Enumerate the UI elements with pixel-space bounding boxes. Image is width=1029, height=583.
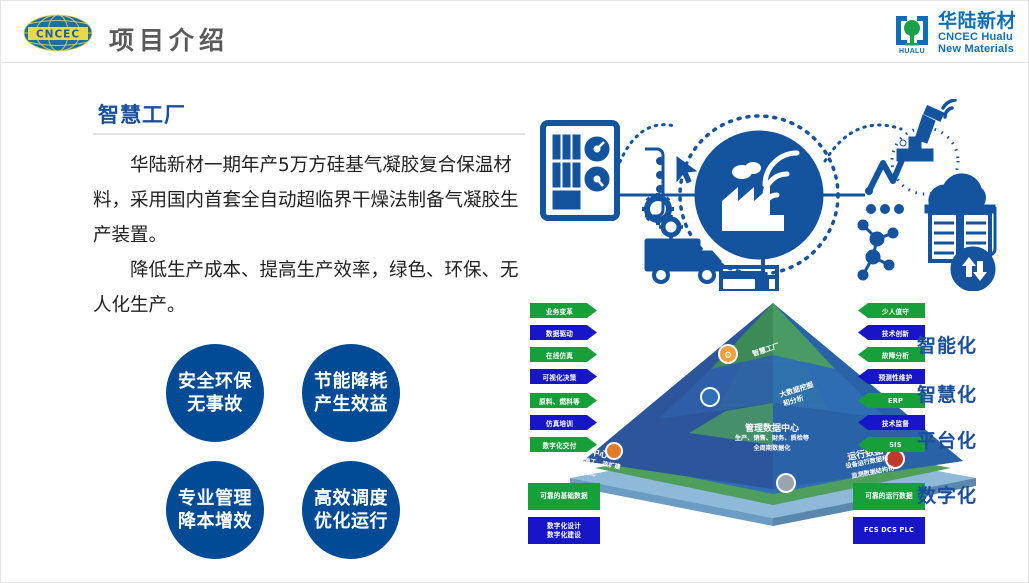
benefit-circle-safety: 安全环保 无事故 xyxy=(166,344,264,442)
body-paragraph-1: 华陆新材一期年产5万方硅基气凝胶复合保温材料，采用国内首套全自动超临界干燥法制备… xyxy=(93,148,528,253)
box-right-ops-data-line1: 可靠的运行数据 xyxy=(865,492,913,501)
benefit-circle-management-line1: 专业管理 xyxy=(178,487,252,510)
tag-left-1: 数据驱动 xyxy=(530,325,597,340)
cloud-icon xyxy=(929,174,986,209)
maturity-pyramid-diagram: ⚙ 智慧工厂 大数据挖掘 和分析 管理数据中心 生产、销售、财务、质检等 全周期… xyxy=(521,293,1026,545)
hualu-wordmark: 华陆新材 CNCEC Hualu New Materials xyxy=(938,12,1016,55)
benefit-circle-energy-line1: 节能降耗 xyxy=(314,370,388,393)
cncec-globe-logo: CNCEC xyxy=(19,14,97,52)
box-left-digital-design-line2: 数字化建设 xyxy=(547,531,581,540)
tag-right-6: SIS xyxy=(858,437,925,452)
page-header: CNCEC 项目介绍 HUALU 华陆新材 CNCEC Hualu New Ma… xyxy=(1,1,1029,63)
tag-right-3: 预测性维护 xyxy=(858,369,925,384)
tag-left-5: 仿真培训 xyxy=(530,415,597,430)
benefit-circle-safety-line1: 安全环保 xyxy=(178,370,252,393)
section-divider xyxy=(93,133,525,135)
level-label-intelligent: 智能化 xyxy=(917,331,977,358)
box-left-digital-design-line1: 数字化设计 xyxy=(547,522,581,531)
body-paragraph-2: 降低生产成本、提高生产效率，绿色、环保、无人化生产。 xyxy=(93,253,528,323)
body-text-block: 华陆新材一期年产5万方硅基气凝胶复合保温材料，采用国内首套全自动超临界干燥法制备… xyxy=(93,148,528,323)
tag-left-4: 原料、燃料等 xyxy=(530,393,597,408)
molecule-icon xyxy=(858,220,898,280)
dots-separator-icon xyxy=(867,205,904,214)
benefit-circle-scheduling: 高效调度 优化运行 xyxy=(302,461,400,559)
tag-right-5: 技术监督 xyxy=(858,415,925,430)
industrial-iot-illustration xyxy=(525,99,1025,291)
svg-text:⚙: ⚙ xyxy=(724,351,732,361)
box-right-fcs-dcs-plc: FCS DCS PLC xyxy=(853,517,925,544)
truck-icon xyxy=(645,239,721,282)
box-right-ops-data: 可靠的运行数据 xyxy=(853,483,925,510)
iot-illustration-svg xyxy=(525,99,1025,291)
hualu-mark-label: HUALU xyxy=(893,48,931,55)
box-left-base-data-line1: 可靠的基础数据 xyxy=(540,492,588,501)
benefit-circle-scheduling-line1: 高效调度 xyxy=(314,487,388,510)
tag-left-0: 业务变革 xyxy=(530,303,597,318)
benefit-circle-management: 专业管理 降本增效 xyxy=(166,461,264,559)
tag-right-4: ERP xyxy=(858,393,925,408)
level-label-platform: 平台化 xyxy=(917,426,977,453)
dotted-arc-left xyxy=(617,125,675,169)
benefit-circle-energy-line2: 产生效益 xyxy=(314,393,388,416)
dotted-arc-right xyxy=(825,125,901,161)
factory-wifi-icon xyxy=(680,116,838,274)
tag-left-6: 数字化交付 xyxy=(530,437,597,452)
benefit-circle-energy: 节能降耗 产生效益 xyxy=(302,344,400,442)
header-divider xyxy=(1,62,1029,63)
hualu-mark-svg xyxy=(893,14,931,47)
chart-line-icon xyxy=(869,153,905,191)
section-heading: 智慧工厂 xyxy=(98,99,186,129)
conveyor-box-icon xyxy=(755,279,769,291)
box-right-fcs-dcs-plc-line1: FCS DCS PLC xyxy=(864,526,914,535)
tag-right-0: 少人值守 xyxy=(858,303,925,318)
level-label-smart: 智慧化 xyxy=(917,380,977,407)
box-left-base-data: 可靠的基础数据 xyxy=(528,483,600,510)
tag-left-3: 可视化决策 xyxy=(530,369,597,384)
benefit-circle-management-line2: 降本增效 xyxy=(178,510,252,533)
page-title: 项目介绍 xyxy=(109,21,229,57)
cncec-logo-text: CNCEC xyxy=(36,29,80,41)
cursor-icon xyxy=(677,157,696,183)
level-label-digital: 数字化 xyxy=(917,481,977,508)
cncec-logo-svg: CNCEC xyxy=(19,14,97,52)
hualu-cn-name: 华陆新材 xyxy=(938,12,1016,32)
hualu-en-line2: New Materials xyxy=(938,44,1016,56)
tag-right-2: 故障分析 xyxy=(858,347,925,362)
slide-root: CNCEC 项目介绍 HUALU 华陆新材 CNCEC Hualu New Ma… xyxy=(0,0,1029,583)
hualu-brand-logo: HUALU 华陆新材 CNCEC Hualu New Materials xyxy=(893,14,1016,54)
benefit-circle-scheduling-line2: 优化运行 xyxy=(314,510,388,533)
hualu-mark-icon: HUALU xyxy=(893,14,931,54)
benefit-circle-safety-line2: 无事故 xyxy=(187,393,243,416)
tag-right-1: 技术创新 xyxy=(858,325,925,340)
tag-left-2: 在线仿真 xyxy=(530,347,597,362)
box-left-digital-design: 数字化设计 数字化建设 xyxy=(528,517,600,544)
control-panel-icon xyxy=(543,123,617,218)
